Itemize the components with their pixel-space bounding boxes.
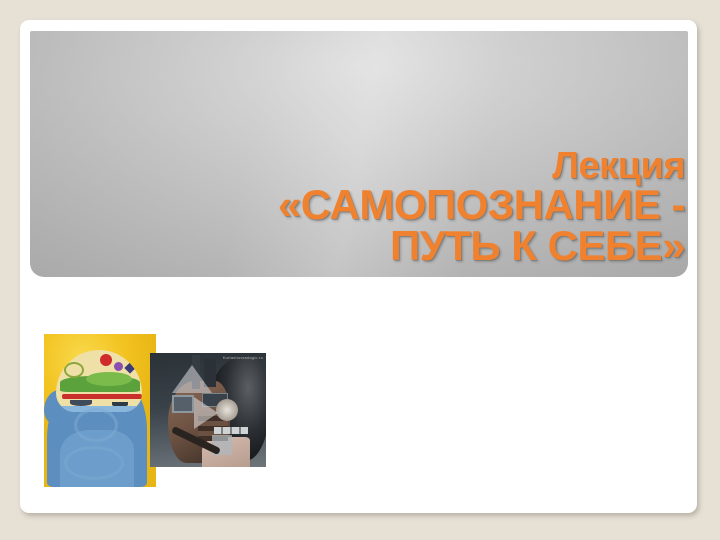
tree-icon — [64, 362, 84, 378]
triangle-roof-shape — [172, 365, 212, 393]
purple-balloon-icon — [114, 362, 123, 371]
brain-swirl-shape — [74, 408, 118, 442]
brain-swirl-shape-lower — [64, 446, 124, 480]
grass-shape-highlight — [86, 372, 132, 386]
head-nature-illustration-image — [44, 334, 156, 487]
keyboard-strip-shape — [214, 427, 248, 434]
red-bridge-shape — [62, 394, 142, 399]
red-balloon-icon — [100, 354, 112, 366]
title-line-2: «САМОПОЗНАНИЕ - — [45, 185, 685, 226]
sphere-shape — [216, 399, 238, 421]
triangle-wedge-shape — [194, 397, 218, 429]
block-shape-eye — [172, 395, 194, 413]
image-watermark: Kurtashovsndogic.ru — [223, 355, 263, 360]
fragmented-face-collage-image: Kurtashovsndogic.ru — [150, 353, 266, 467]
title-line-3: ПУТЬ К СЕБЕ» — [45, 226, 685, 267]
title-line-1: Лекция — [45, 148, 685, 185]
presentation-slide: Лекция «САМОПОЗНАНИЕ - ПУТЬ К СЕБЕ» — [20, 20, 697, 513]
slide-title: Лекция «САМОПОЗНАНИЕ - ПУТЬ К СЕБЕ» — [45, 148, 685, 266]
